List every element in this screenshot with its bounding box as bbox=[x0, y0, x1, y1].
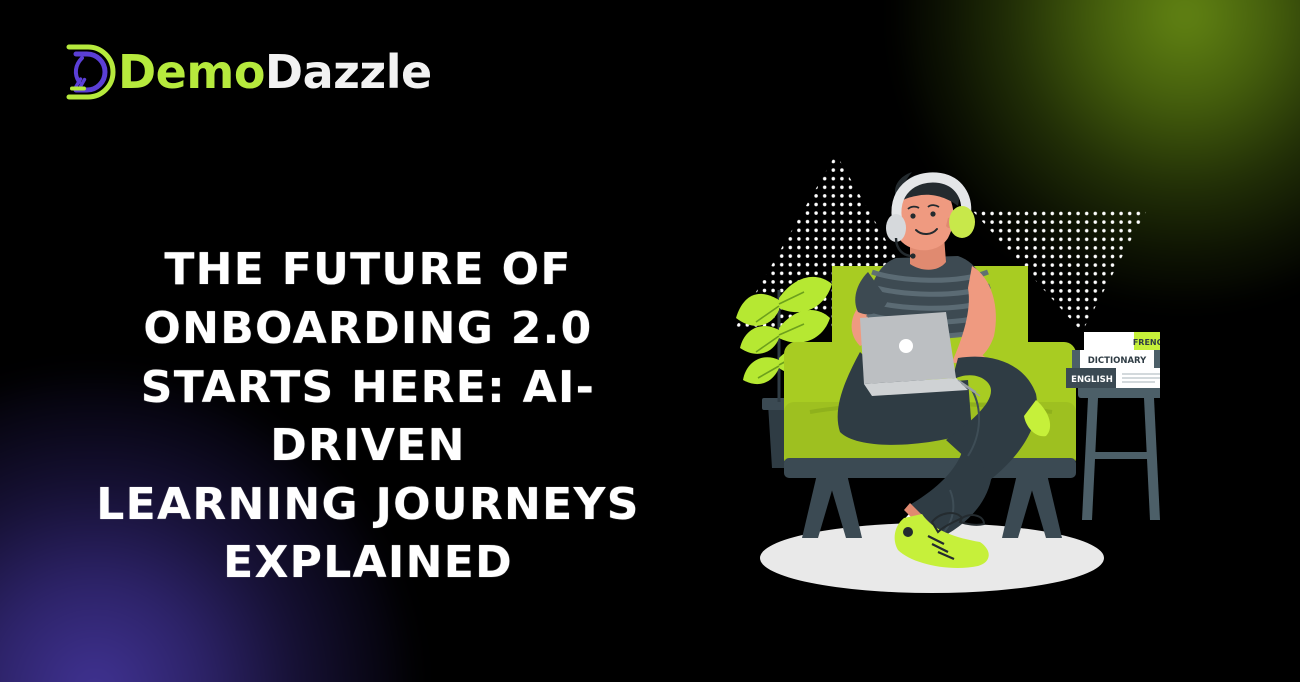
title-line-1: THE FUTURE OF bbox=[58, 241, 678, 300]
side-table bbox=[1078, 382, 1160, 520]
logo-word-dazzle: Dazzle bbox=[265, 45, 432, 99]
demodazzle-d-mark bbox=[62, 41, 124, 103]
book-stack: FRENCH DICTIONARY ENGLISH bbox=[1066, 332, 1160, 388]
book-label-dictionary: DICTIONARY bbox=[1088, 356, 1147, 366]
hero-banner: DemoDazzle THE FUTURE OF ONBOARDING 2.0 … bbox=[0, 0, 1300, 682]
book-label-english: ENGLISH bbox=[1071, 375, 1113, 385]
hero-illustration: FRENCH DICTIONARY ENGLISH bbox=[700, 140, 1160, 600]
page-title: THE FUTURE OF ONBOARDING 2.0 STARTS HERE… bbox=[58, 241, 678, 592]
title-line-5: EXPLAINED bbox=[58, 534, 678, 593]
logo-wordmark: DemoDazzle bbox=[118, 49, 432, 95]
title-line-4: LEARNING JOURNEYS bbox=[58, 476, 678, 535]
book-label-french: FRENCH bbox=[1133, 338, 1160, 347]
title-line-2: ONBOARDING 2.0 bbox=[58, 300, 678, 359]
person-on-sofa-with-laptop-illustration: FRENCH DICTIONARY ENGLISH bbox=[700, 140, 1160, 600]
logo-word-demo: Demo bbox=[118, 45, 265, 99]
title-line-3: STARTS HERE: AI-DRIVEN bbox=[58, 359, 678, 476]
demodazzle-logo[interactable]: DemoDazzle bbox=[62, 38, 432, 106]
